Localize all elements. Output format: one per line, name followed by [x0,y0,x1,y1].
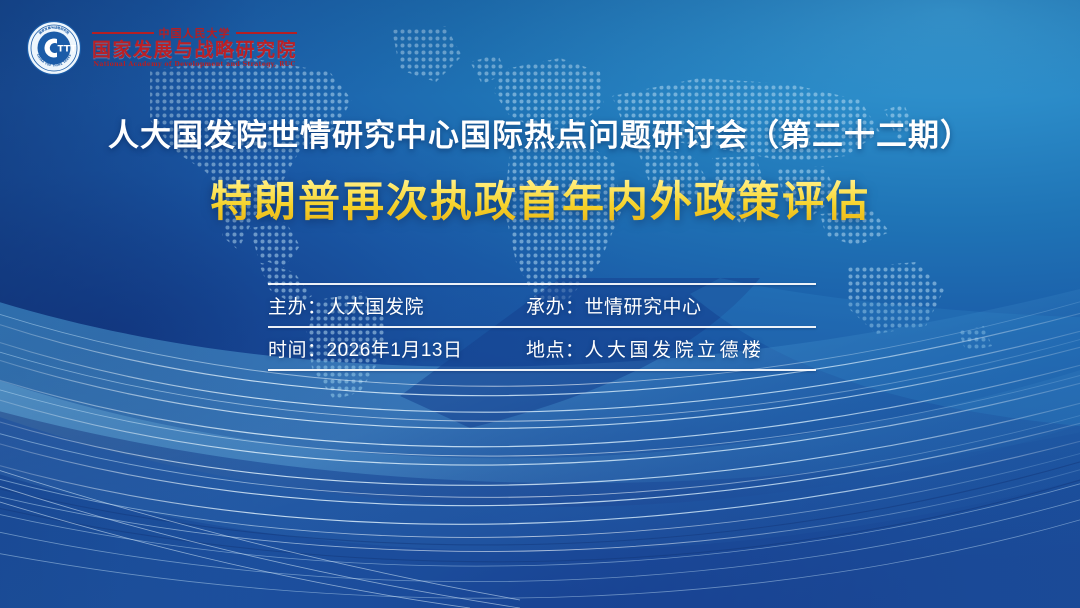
organizer-value: 人大国发院 [327,297,425,318]
venue-value: 人大国发院立德楼 [585,340,765,361]
institute-name-english: National Academy of Development and Stra… [93,62,295,68]
ctts-circular-seal-icon: TTT 国家发展与战略研究院 CHINA TOP THINK TANKS [26,20,82,76]
time-value: 2026年1月13日 [327,340,463,361]
info-row-organizers: 主办：人大国发院 承办：世情研究中心 [268,285,816,326]
organizer-label: 主办： [268,297,327,318]
wordmark-university-line: 中国人民大学 [92,28,297,39]
venue-cell: 地点：人大国发院立德楼 [526,335,816,362]
institution-logo: TTT 国家发展与战略研究院 CHINA TOP THINK TANKS 中国人… [26,20,297,76]
institute-wordmark: 中国人民大学 国家发展与战略研究院 National Academy of De… [92,28,297,68]
page-title: 人大国发院世情研究中心国际热点问题研讨会（第二十二期） [0,110,1080,155]
time-cell: 时间：2026年1月13日 [268,335,526,362]
institute-name: 国家发展与战略研究院 [92,41,297,60]
time-label: 时间： [268,340,327,361]
wordmark-rule-left [92,32,154,34]
event-details: 主办：人大国发院 承办：世情研究中心 时间：2026年1月13日 地点：人大国发… [268,283,816,371]
info-divider-bottom [268,369,816,371]
svg-text:TTT: TTT [58,45,78,55]
wordmark-rule-right [236,32,298,34]
co-organizer-value: 世情研究中心 [585,297,702,318]
conference-poster: TTT 国家发展与战略研究院 CHINA TOP THINK TANKS 中国人… [0,0,1080,608]
university-name: 中国人民大学 [159,28,231,39]
co-organizer-label: 承办： [526,297,585,318]
page-subtitle: 特朗普再次执政首年内外政策评估 [0,168,1080,229]
organizer-cell: 主办：人大国发院 [268,292,526,319]
co-organizer-cell: 承办：世情研究中心 [526,292,816,319]
venue-label: 地点： [526,340,585,361]
info-row-time-venue: 时间：2026年1月13日 地点：人大国发院立德楼 [268,328,816,369]
